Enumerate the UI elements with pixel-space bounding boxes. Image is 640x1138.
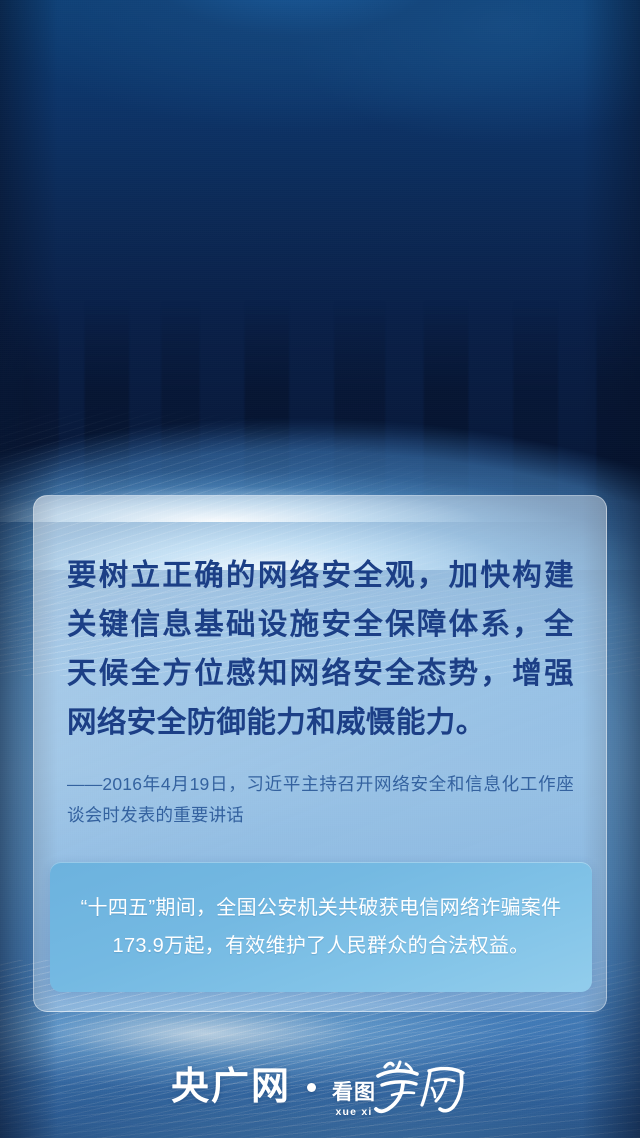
poster-content: 要树立正确的网络安全观，加快构建关键信息基础设施安全保障体系，全天候全方位感知网…	[0, 0, 640, 1138]
quote-text: 要树立正确的网络安全观，加快构建关键信息基础设施安全保障体系，全天候全方位感知网…	[67, 551, 574, 747]
quote-source-attribution: ——2016年4月19日，习近平主持召开网络安全和信息化工作座谈会时发表的重要讲…	[67, 769, 574, 831]
column-label-kantu: 看图	[332, 1082, 376, 1103]
footer-brand-lockup: 央广网 看图 xue xi	[0, 1056, 640, 1118]
poster-root: 要树立正确的网络安全观，加快构建关键信息基础设施安全保障体系，全天候全方位感知网…	[0, 0, 640, 1138]
xuexi-calligraphy-icon	[373, 1057, 469, 1115]
statistic-text: “十四五”期间，全国公安机关共破获电信网络诈骗案件173.9万起，有效维护了人民…	[76, 889, 566, 965]
column-lockup: 看图 xue xi	[332, 1057, 469, 1117]
dot-separator-icon	[307, 1083, 316, 1092]
statistic-card: “十四五”期间，全国公安机关共破获电信网络诈骗案件173.9万起，有效维护了人民…	[50, 862, 592, 992]
column-kantu-wrap: 看图 xue xi	[332, 1082, 376, 1118]
pinyin-xuexi: xue xi	[336, 1107, 373, 1118]
brand-name-yangguangwang: 央广网	[171, 1068, 291, 1106]
